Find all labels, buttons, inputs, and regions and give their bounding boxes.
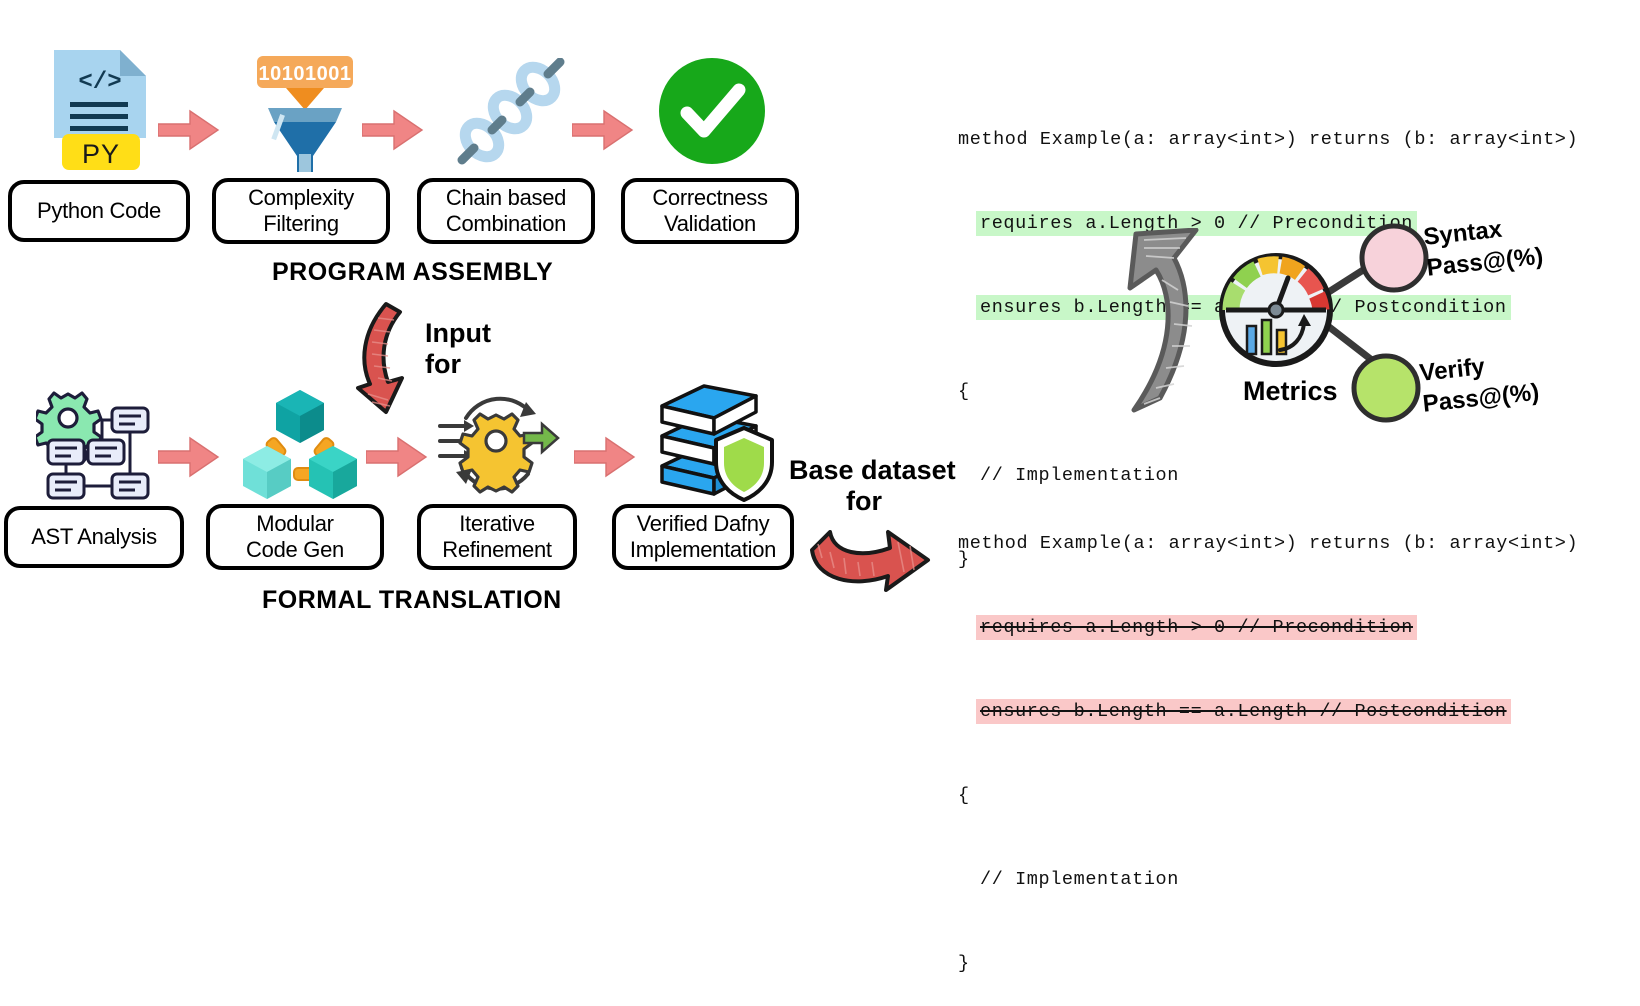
flow-arrow-icon	[572, 108, 634, 152]
code-line: }	[958, 950, 1634, 978]
node-python-code[interactable]: Python Code	[8, 180, 190, 242]
code-line: requires a.Length > 0 // Precondition	[958, 614, 1634, 642]
node-label-line2: Filtering	[263, 211, 339, 237]
flow-arrow-icon	[158, 108, 220, 152]
node-chain-based-combination[interactable]: Chain based Combination	[417, 178, 595, 244]
node-label-line2: Implementation	[630, 537, 776, 563]
figure-canvas: </> PY 10101001 Python Code Complexity F…	[0, 0, 1640, 703]
linked-cubes-icon	[240, 382, 360, 500]
flow-arrow-icon	[158, 435, 220, 479]
funnel-filter-icon: 10101001	[250, 54, 360, 172]
node-label-line1: Iterative	[459, 511, 535, 537]
node-verified-dafny-implementation[interactable]: Verified Dafny Implementation	[612, 504, 794, 570]
red-curved-down-arrow-icon	[352, 300, 432, 416]
svg-text:10101001: 10101001	[259, 63, 352, 85]
connector-label-line1: Input	[425, 318, 491, 349]
connector-label-line2: for	[789, 486, 939, 517]
node-label-line2: Code Gen	[246, 537, 344, 563]
code-block-bottom: method Example(a: array<int>) returns (b…	[958, 474, 1634, 1006]
node-label: AST Analysis	[31, 524, 157, 550]
node-label-line1: Modular	[256, 511, 333, 537]
section-caption-formal-translation: FORMAL TRANSLATION	[262, 586, 562, 615]
node-label-line1: Complexity	[248, 185, 354, 211]
flow-arrow-icon	[362, 108, 424, 152]
node-modular-code-gen[interactable]: Modular Code Gen	[206, 504, 384, 570]
green-check-icon	[657, 56, 767, 166]
connector-label-line2: for	[425, 349, 491, 380]
node-iterative-refinement[interactable]: Iterative Refinement	[417, 504, 577, 570]
stack-shield-icon	[652, 384, 776, 502]
node-ast-analysis[interactable]: AST Analysis	[4, 506, 184, 568]
code-line: method Example(a: array<int>) returns (b…	[958, 530, 1634, 558]
red-curved-right-arrow-icon	[808, 520, 934, 592]
section-caption-program-assembly: PROGRAM ASSEMBLY	[272, 258, 553, 287]
connector-label-line1: Base dataset	[789, 455, 939, 486]
svg-text:PY: PY	[82, 139, 120, 169]
metric-label-verify: Verify Pass@(%)	[1418, 346, 1541, 420]
node-label-line1: Chain based	[446, 185, 566, 211]
code-strike-precondition: requires a.Length > 0 // Precondition	[976, 615, 1417, 640]
node-label-line2: Combination	[446, 211, 566, 237]
svg-text:</>: </>	[78, 69, 121, 96]
python-file-icon: </> PY	[48, 46, 152, 171]
connector-label-input-for: Input for	[425, 318, 491, 381]
pink-circle-node	[1358, 222, 1430, 294]
flow-arrow-icon	[366, 435, 428, 479]
node-label-line2: Validation	[664, 211, 756, 237]
code-line: ensures b.Length == a.Length // Postcond…	[958, 698, 1634, 726]
code-line: {	[958, 782, 1634, 810]
ast-tree-icon	[36, 390, 156, 500]
node-complexity-filtering[interactable]: Complexity Filtering	[212, 178, 390, 244]
code-line: method Example(a: array<int>) returns (b…	[958, 126, 1634, 154]
dashboard-gauge-icon	[1218, 252, 1334, 368]
chain-links-icon	[452, 58, 570, 168]
connector-label-base-dataset-for: Base dataset for	[789, 455, 939, 518]
node-correctness-validation[interactable]: Correctness Validation	[621, 178, 799, 244]
metric-label-syntax: Syntax Pass@(%)	[1422, 210, 1545, 284]
node-label-line1: Verified Dafny	[637, 511, 770, 537]
flow-arrow-icon	[574, 435, 636, 479]
metrics-label: Metrics	[1243, 376, 1338, 407]
code-line: // Implementation	[958, 866, 1634, 894]
green-circle-node	[1350, 352, 1422, 424]
node-label-line2: Refinement	[442, 537, 552, 563]
gray-curved-up-arrow-icon	[1100, 228, 1210, 420]
node-label: Python Code	[37, 198, 161, 224]
gear-refresh-icon	[432, 388, 560, 498]
node-label-line1: Correctness	[652, 185, 767, 211]
